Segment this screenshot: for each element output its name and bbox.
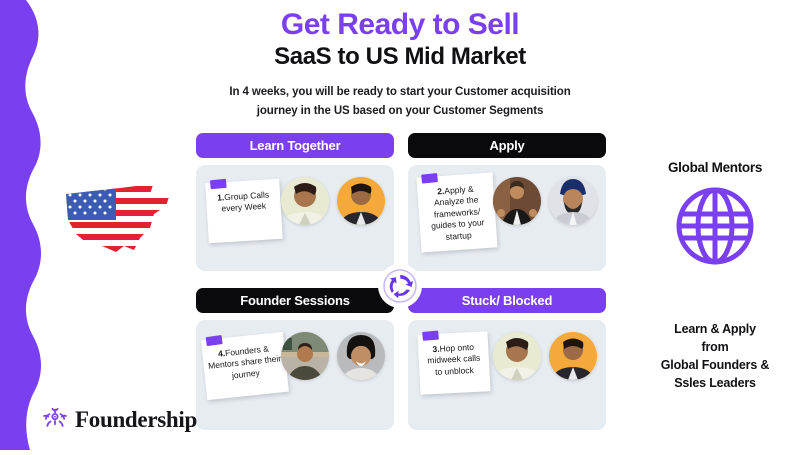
avatar-group-stuck-blocked	[493, 332, 597, 380]
quadrant-header-stuck-blocked[interactable]: Stuck/ Blocked	[408, 288, 606, 313]
quadrant-panel-stuck-blocked: 3.Hop onto midweek calls to unblock	[408, 320, 606, 430]
quadrant-header-founder-sessions[interactable]: Founder Sessions	[196, 288, 394, 313]
global-mentors-block: Global Mentors	[630, 160, 800, 268]
quadrant-learn-together[interactable]: Learn Together 1.Group Calls every Week	[196, 133, 394, 271]
page-title-sub: SaaS to US Mid Market	[180, 43, 620, 72]
learn-apply-footer: Learn & Apply from Global Founders & Ssl…	[630, 320, 800, 393]
quadrant-panel-founder-sessions: 4.Founders & Mentors share their journey	[196, 320, 394, 430]
brand-logo-text: Foundership	[75, 407, 197, 433]
usa-map-flag-icon	[58, 172, 178, 258]
quadrant-panel-learn-together: 1.Group Calls every Week	[196, 165, 394, 271]
avatar-man-office	[281, 332, 329, 380]
sticky-note-1-text: Group Calls every Week	[221, 189, 269, 213]
avatar-man-cream	[493, 332, 541, 380]
sticky-note-4: 4.Founders & Mentors share their journey	[201, 332, 289, 400]
quadrant-panel-apply: 2.Apply & Analyze the frameworks/ guides…	[408, 165, 606, 271]
subtitle-line-1: In 4 weeks, you will be ready to start y…	[180, 83, 620, 102]
page-title-main: Get Ready to Sell	[180, 8, 620, 42]
subtitle-line-2: journey in the US based on your Customer…	[180, 102, 620, 121]
footer-line-3: Global Founders &	[630, 356, 800, 374]
quadrant-stuck-blocked[interactable]: Stuck/ Blocked 3.Hop onto midweek calls …	[408, 288, 606, 430]
quadrant-header-learn-together[interactable]: Learn Together	[196, 133, 394, 158]
sticky-note-3: 3.Hop onto midweek calls to unblock	[417, 331, 490, 395]
footer-line-4: Ssles Leaders	[630, 374, 800, 392]
footer-line-2: from	[630, 338, 800, 356]
starburst-icon	[42, 404, 68, 435]
quadrant-header-apply[interactable]: Apply	[408, 133, 606, 158]
brand-logo[interactable]: Foundership	[42, 404, 197, 435]
slide-canvas: Get Ready to Sell SaaS to US Mid Market …	[0, 0, 800, 450]
globe-icon	[630, 184, 800, 268]
avatar-woman-gray	[337, 332, 385, 380]
global-mentors-title: Global Mentors	[630, 160, 800, 175]
quadrant-founder-sessions[interactable]: Founder Sessions 4.Founders & Mentors sh…	[196, 288, 394, 430]
avatar-man-turban	[549, 177, 597, 225]
footer-line-1: Learn & Apply	[630, 320, 800, 338]
recycle-loop-icon	[381, 267, 419, 305]
tape-icon	[206, 335, 223, 346]
tape-icon	[422, 331, 439, 341]
tape-icon	[421, 173, 438, 184]
page-subtitle: In 4 weeks, you will be ready to start y…	[180, 83, 620, 121]
avatar-man-orange	[549, 332, 597, 380]
avatar-man-cream	[281, 177, 329, 225]
avatar-group-founder-sessions	[281, 332, 385, 380]
sticky-note-2: 2.Apply & Analyze the frameworks/ guides…	[416, 172, 497, 252]
avatar-speaker-brown	[493, 177, 541, 225]
sticky-note-1: 1.Group Calls every Week	[205, 179, 283, 243]
header-block: Get Ready to Sell SaaS to US Mid Market …	[180, 8, 620, 121]
tape-icon	[210, 179, 227, 189]
avatar-group-learn-together	[281, 177, 385, 225]
quadrant-apply[interactable]: Apply 2.Apply & Analyze the frameworks/ …	[408, 133, 606, 271]
avatar-group-apply	[493, 177, 597, 225]
wave-band-decoration	[0, 0, 60, 450]
avatar-man-orange	[337, 177, 385, 225]
